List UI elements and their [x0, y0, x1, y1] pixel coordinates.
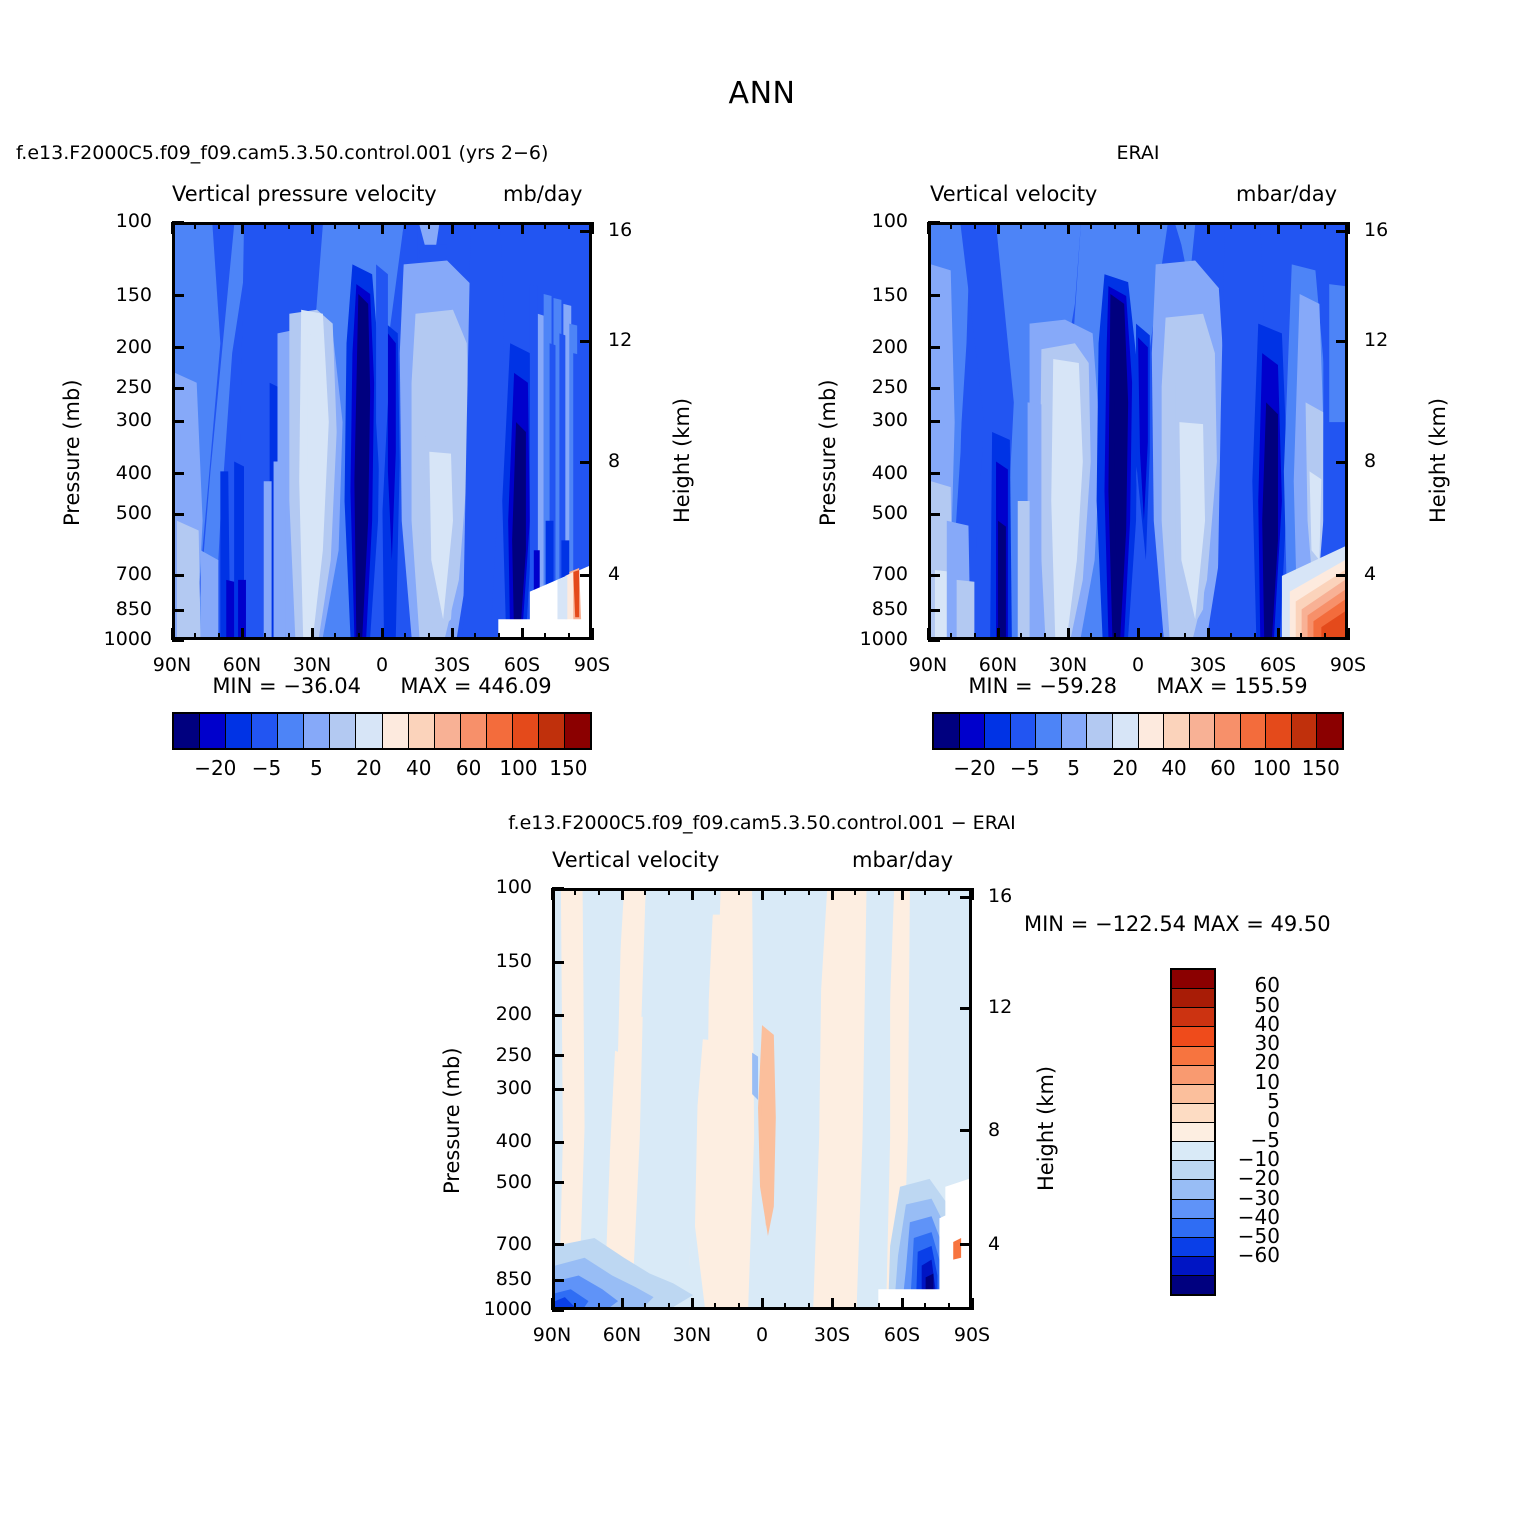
y-axis-tick-label: 150	[68, 284, 152, 306]
x-tick-minor	[1090, 633, 1092, 640]
x-tick-minor	[1254, 222, 1256, 229]
x-axis-tick-label: 90N	[132, 654, 212, 676]
x-tick-minor	[808, 888, 810, 895]
y-axis-tick-label: 1000	[448, 1298, 532, 1320]
x-tick-major	[1137, 222, 1140, 234]
y-axis-tick-label: 200	[68, 336, 152, 358]
x-tick-minor	[598, 1303, 600, 1310]
y-axis-title: Pressure (mb)	[440, 1047, 464, 1194]
colorbar-cell	[356, 714, 382, 748]
panel-header-obs: ERAI	[928, 142, 1348, 164]
x-tick-minor	[358, 222, 360, 229]
x-tick-minor	[950, 633, 952, 640]
x-tick-major	[241, 628, 244, 640]
colorbar-cell	[1172, 1123, 1214, 1142]
x-tick-minor	[264, 222, 266, 229]
colorbar-cell	[1172, 1161, 1214, 1180]
x-tick-major	[621, 1298, 624, 1310]
y-axis-title: Pressure (mb)	[60, 379, 84, 526]
x-tick-minor	[1300, 222, 1302, 229]
colorbar-cell	[487, 714, 513, 748]
colorbar-cell	[278, 714, 304, 748]
x-tick-minor	[1114, 633, 1116, 640]
x-axis-tick-label: 60N	[958, 654, 1038, 676]
x-axis-tick-label: 30N	[272, 654, 352, 676]
x-tick-major	[831, 888, 834, 900]
y-tick-major	[172, 420, 184, 423]
y2-axis-tick-label: 4	[988, 1233, 1058, 1255]
colorbar-cell	[1172, 1180, 1214, 1199]
x-tick-major	[1207, 222, 1210, 234]
x-tick-major	[521, 222, 524, 234]
y2-tick-major	[580, 574, 592, 577]
y2-axis-tick-label: 12	[988, 996, 1058, 1018]
panel-units-label-obs: mbar/day	[1236, 182, 1337, 206]
plot-area-obs[interactable]	[928, 222, 1348, 640]
max-value-obs: MAX = 155.59	[1156, 674, 1307, 698]
y-tick-major	[172, 574, 184, 577]
x-tick-minor	[738, 888, 740, 895]
colorbar-cell	[1190, 714, 1216, 748]
y-tick-major	[552, 961, 564, 964]
page-title: ANN	[0, 76, 1524, 111]
x-tick-major	[997, 628, 1000, 640]
x-tick-minor	[1230, 222, 1232, 229]
x-tick-minor	[334, 222, 336, 229]
x-tick-minor	[1184, 222, 1186, 229]
colorbar-cell	[1172, 1027, 1214, 1046]
y-axis-tick-label: 850	[448, 1268, 532, 1290]
y2-tick-major	[580, 461, 592, 464]
x-tick-major	[451, 628, 454, 640]
x-tick-major	[691, 1298, 694, 1310]
x-tick-minor	[784, 1303, 786, 1310]
x-tick-minor	[498, 633, 500, 640]
colorbar-cell	[1172, 970, 1214, 989]
y-tick-major	[172, 387, 184, 390]
x-tick-minor	[404, 633, 406, 640]
colorbar-cell	[985, 714, 1011, 748]
x-axis-tick-label: 30N	[652, 1324, 732, 1346]
min-value-obs: MIN = −59.28	[968, 674, 1117, 698]
x-tick-minor	[194, 633, 196, 640]
x-tick-minor	[1300, 633, 1302, 640]
x-axis-tick-label: 60S	[1238, 654, 1318, 676]
x-tick-minor	[474, 633, 476, 640]
x-tick-major	[1067, 628, 1070, 640]
panel-variable-label-obs: Vertical velocity	[930, 182, 1097, 206]
x-tick-minor	[854, 888, 856, 895]
x-tick-major	[691, 888, 694, 900]
x-tick-major	[761, 1298, 764, 1310]
colorbar-cell	[1172, 1047, 1214, 1066]
colorbar-cell	[1172, 1276, 1214, 1294]
x-tick-minor	[784, 888, 786, 895]
x-tick-minor	[644, 1303, 646, 1310]
y2-axis-tick-label: 8	[608, 450, 678, 472]
x-tick-minor	[358, 633, 360, 640]
y-tick-major	[928, 294, 940, 297]
x-tick-major	[761, 888, 764, 900]
y-tick-major	[552, 1088, 564, 1091]
y-tick-major	[552, 887, 564, 890]
x-tick-minor	[334, 633, 336, 640]
y-tick-major	[172, 472, 184, 475]
x-tick-minor	[948, 888, 950, 895]
y2-tick-major	[960, 1129, 972, 1132]
x-tick-minor	[1324, 222, 1326, 229]
colorbar-cell	[960, 714, 986, 748]
colorbar-cell	[1172, 1200, 1214, 1219]
y2-tick-major	[580, 230, 592, 233]
plot-area-diff[interactable]	[552, 888, 972, 1310]
x-tick-minor	[574, 1303, 576, 1310]
x-tick-minor	[428, 633, 430, 640]
colorbar-cell	[1172, 989, 1214, 1008]
x-tick-minor	[1044, 222, 1046, 229]
colorbar-cell	[513, 714, 539, 748]
x-tick-minor	[218, 633, 220, 640]
x-tick-major	[1347, 628, 1350, 640]
x-tick-minor	[498, 222, 500, 229]
min-value-model: MIN = −36.04	[212, 674, 361, 698]
y2-axis-tick-label: 16	[608, 219, 678, 241]
x-tick-major	[521, 628, 524, 640]
x-tick-minor	[218, 222, 220, 229]
x-axis-tick-label: 90S	[1308, 654, 1388, 676]
x-tick-major	[831, 1298, 834, 1310]
x-tick-major	[927, 222, 930, 234]
y2-axis-tick-label: 12	[1364, 329, 1434, 351]
x-tick-major	[621, 888, 624, 900]
x-tick-major	[1277, 222, 1280, 234]
x-tick-minor	[950, 222, 952, 229]
x-tick-major	[971, 1298, 974, 1310]
x-tick-minor	[428, 222, 430, 229]
y2-tick-major	[1336, 340, 1348, 343]
colorbar-cell	[1172, 1066, 1214, 1085]
colorbar-cell	[1113, 714, 1139, 748]
x-tick-minor	[1114, 222, 1116, 229]
x-axis-tick-label: 60S	[862, 1324, 942, 1346]
y-axis-tick-label: 1000	[68, 628, 152, 650]
x-tick-major	[1067, 222, 1070, 234]
x-tick-minor	[668, 888, 670, 895]
y-axis-tick-label: 150	[824, 284, 908, 306]
colorbar-cell	[1172, 1257, 1214, 1276]
colorbar-cell	[1164, 714, 1190, 748]
y-tick-major	[928, 639, 940, 642]
y-axis-tick-label: 200	[448, 1003, 532, 1025]
x-tick-minor	[808, 1303, 810, 1310]
plot-area-model[interactable]	[172, 222, 592, 640]
colorbar-tick-label: −60	[1222, 1243, 1280, 1267]
x-axis-tick-label: 90N	[512, 1324, 592, 1346]
x-tick-minor	[854, 1303, 856, 1310]
x-axis-tick-label: 0	[722, 1324, 802, 1346]
colorbar-cell	[1172, 1008, 1214, 1027]
colorbar-cell	[174, 714, 200, 748]
x-axis-tick-label: 30N	[1028, 654, 1108, 676]
x-tick-minor	[948, 1303, 950, 1310]
colorbar-cell	[1172, 1238, 1214, 1257]
x-axis-tick-label: 90S	[552, 654, 632, 676]
colorbar-cell	[1266, 714, 1292, 748]
colorbar-cell	[1011, 714, 1037, 748]
y-tick-major	[928, 609, 940, 612]
y-axis-tick-label: 700	[448, 1233, 532, 1255]
max-value-model: MAX = 446.09	[400, 674, 551, 698]
y-tick-major	[172, 513, 184, 516]
x-tick-minor	[1044, 633, 1046, 640]
y-tick-major	[552, 1014, 564, 1017]
y-tick-major	[172, 639, 184, 642]
y2-axis-tick-label: 8	[1364, 450, 1434, 472]
contour-field-obs	[931, 225, 1345, 637]
x-tick-major	[451, 222, 454, 234]
y2-axis-tick-label: 4	[1364, 563, 1434, 585]
x-axis-tick-label: 60N	[202, 654, 282, 676]
colorbar-cell	[1062, 714, 1088, 748]
x-tick-major	[901, 888, 904, 900]
x-tick-major	[241, 222, 244, 234]
minmax-diff: MIN = −122.54 MAX = 49.50	[1024, 912, 1331, 936]
colorbar-diff[interactable]	[1170, 968, 1216, 1296]
x-tick-minor	[264, 633, 266, 640]
y2-axis-title: Height (km)	[1426, 398, 1450, 523]
x-tick-minor	[194, 222, 196, 229]
x-tick-minor	[974, 222, 976, 229]
x-axis-tick-label: 30S	[792, 1324, 872, 1346]
y-axis-tick-label: 700	[68, 563, 152, 585]
y-tick-major	[172, 294, 184, 297]
y-tick-major	[928, 221, 940, 224]
x-axis-tick-label: 30S	[1168, 654, 1248, 676]
colorbar-cell	[1317, 714, 1342, 748]
x-tick-minor	[878, 888, 880, 895]
x-tick-minor	[714, 1303, 716, 1310]
y-axis-tick-label: 100	[448, 876, 532, 898]
x-tick-minor	[924, 1303, 926, 1310]
x-axis-tick-label: 0	[1098, 654, 1178, 676]
y-tick-major	[172, 609, 184, 612]
y2-axis-title: Height (km)	[1034, 1066, 1058, 1191]
x-tick-minor	[568, 633, 570, 640]
x-tick-major	[381, 628, 384, 640]
panel-header-diff: f.e13.F2000C5.f09_f09.cam5.3.50.control.…	[262, 812, 1262, 834]
y-axis-tick-label: 200	[824, 336, 908, 358]
y-tick-major	[928, 387, 940, 390]
x-tick-major	[311, 222, 314, 234]
panel-header-model: f.e13.F2000C5.f09_f09.cam5.3.50.control.…	[16, 142, 548, 164]
y-tick-major	[928, 346, 940, 349]
x-tick-minor	[1090, 222, 1092, 229]
x-tick-major	[901, 1298, 904, 1310]
y2-axis-tick-label: 4	[608, 563, 678, 585]
minmax-model: MIN = −36.04 MAX = 446.09	[172, 674, 592, 698]
contour-field-diff	[555, 891, 969, 1307]
y2-axis-title: Height (km)	[670, 398, 694, 523]
colorbar-tick-label: 150	[1281, 756, 1361, 780]
y2-axis-tick-label: 12	[608, 329, 678, 351]
colorbar-cell	[1172, 1142, 1214, 1161]
colorbar-cell	[565, 714, 590, 748]
y-tick-major	[552, 1181, 564, 1184]
x-tick-major	[551, 888, 554, 900]
x-tick-minor	[668, 1303, 670, 1310]
x-tick-major	[381, 222, 384, 234]
y-tick-major	[928, 513, 940, 516]
x-axis-tick-label: 60N	[582, 1324, 662, 1346]
y-tick-major	[552, 1309, 564, 1312]
x-axis-tick-label: 60S	[482, 654, 562, 676]
colorbar-cell	[1172, 1104, 1214, 1123]
y-axis-tick-label: 100	[824, 210, 908, 232]
colorbar-cell	[409, 714, 435, 748]
panel-units-label-diff: mbar/day	[852, 848, 953, 872]
colorbar-obs[interactable]	[932, 712, 1344, 750]
x-tick-minor	[974, 633, 976, 640]
y-tick-major	[552, 1054, 564, 1057]
x-tick-minor	[878, 1303, 880, 1310]
colorbar-cell	[1172, 1085, 1214, 1104]
y-tick-major	[552, 1141, 564, 1144]
x-tick-major	[311, 628, 314, 640]
y-axis-tick-label: 700	[824, 563, 908, 585]
colorbar-cell	[1172, 1219, 1214, 1238]
y2-tick-major	[960, 896, 972, 899]
y-axis-tick-label: 100	[68, 210, 152, 232]
colorbar-cell	[1215, 714, 1241, 748]
panel-variable-label-diff: Vertical velocity	[552, 848, 719, 872]
colorbar-cell	[1036, 714, 1062, 748]
y2-tick-major	[580, 340, 592, 343]
x-tick-minor	[288, 633, 290, 640]
colorbar-cell	[226, 714, 252, 748]
x-tick-major	[1277, 628, 1280, 640]
colorbar-cell	[304, 714, 330, 748]
y-tick-major	[928, 472, 940, 475]
x-tick-major	[1207, 628, 1210, 640]
x-tick-minor	[1160, 633, 1162, 640]
colorbar-cell	[330, 714, 356, 748]
colorbar-cell	[461, 714, 487, 748]
x-axis-tick-label: 30S	[412, 654, 492, 676]
y2-tick-major	[1336, 574, 1348, 577]
x-tick-minor	[924, 888, 926, 895]
colorbar-cell	[435, 714, 461, 748]
y-tick-major	[172, 346, 184, 349]
x-tick-major	[1137, 628, 1140, 640]
y-tick-major	[552, 1243, 564, 1246]
y-axis-tick-label: 850	[824, 598, 908, 620]
x-tick-minor	[474, 222, 476, 229]
x-tick-major	[997, 222, 1000, 234]
y-tick-major	[928, 574, 940, 577]
x-tick-major	[591, 628, 594, 640]
x-tick-minor	[738, 1303, 740, 1310]
y2-axis-tick-label: 16	[988, 885, 1058, 907]
colorbar-cell	[1087, 714, 1113, 748]
x-tick-minor	[644, 888, 646, 895]
colorbar-cell	[1241, 714, 1267, 748]
colorbar-cell	[1139, 714, 1165, 748]
x-tick-minor	[288, 222, 290, 229]
x-tick-minor	[1230, 633, 1232, 640]
panel-units-label-model: mb/day	[503, 182, 583, 206]
y-axis-tick-label: 850	[68, 598, 152, 620]
y-tick-major	[552, 1279, 564, 1282]
y-axis-tick-label: 1000	[824, 628, 908, 650]
y2-tick-major	[1336, 461, 1348, 464]
y2-tick-major	[1336, 230, 1348, 233]
colorbar-cell	[252, 714, 278, 748]
x-tick-minor	[544, 222, 546, 229]
x-tick-minor	[1020, 633, 1022, 640]
minmax-obs: MIN = −59.28 MAX = 155.59	[928, 674, 1348, 698]
x-tick-minor	[404, 222, 406, 229]
y-tick-major	[172, 221, 184, 224]
y2-tick-major	[960, 1007, 972, 1010]
x-tick-minor	[1184, 633, 1186, 640]
x-tick-minor	[568, 222, 570, 229]
colorbar-tick-label: 150	[528, 756, 608, 780]
x-axis-tick-label: 0	[342, 654, 422, 676]
panel-variable-label-model: Vertical pressure velocity	[172, 182, 437, 206]
x-tick-minor	[1254, 633, 1256, 640]
colorbar-cell	[1292, 714, 1318, 748]
y-axis-title: Pressure (mb)	[816, 379, 840, 526]
y2-tick-major	[960, 1243, 972, 1246]
x-axis-tick-label: 90N	[888, 654, 968, 676]
x-tick-minor	[1160, 222, 1162, 229]
x-tick-minor	[1324, 633, 1326, 640]
x-tick-minor	[714, 888, 716, 895]
contour-field-model	[175, 225, 589, 637]
colorbar-cell	[200, 714, 226, 748]
y2-axis-tick-label: 16	[1364, 219, 1434, 241]
colorbar-cell	[539, 714, 565, 748]
x-tick-major	[171, 222, 174, 234]
x-tick-minor	[1020, 222, 1022, 229]
x-axis-tick-label: 90S	[932, 1324, 1012, 1346]
y-tick-major	[928, 420, 940, 423]
colorbar-model[interactable]	[172, 712, 592, 750]
x-tick-minor	[598, 888, 600, 895]
y-axis-tick-label: 150	[448, 950, 532, 972]
colorbar-cell	[934, 714, 960, 748]
x-tick-minor	[574, 888, 576, 895]
colorbar-cell	[383, 714, 409, 748]
x-tick-minor	[544, 633, 546, 640]
